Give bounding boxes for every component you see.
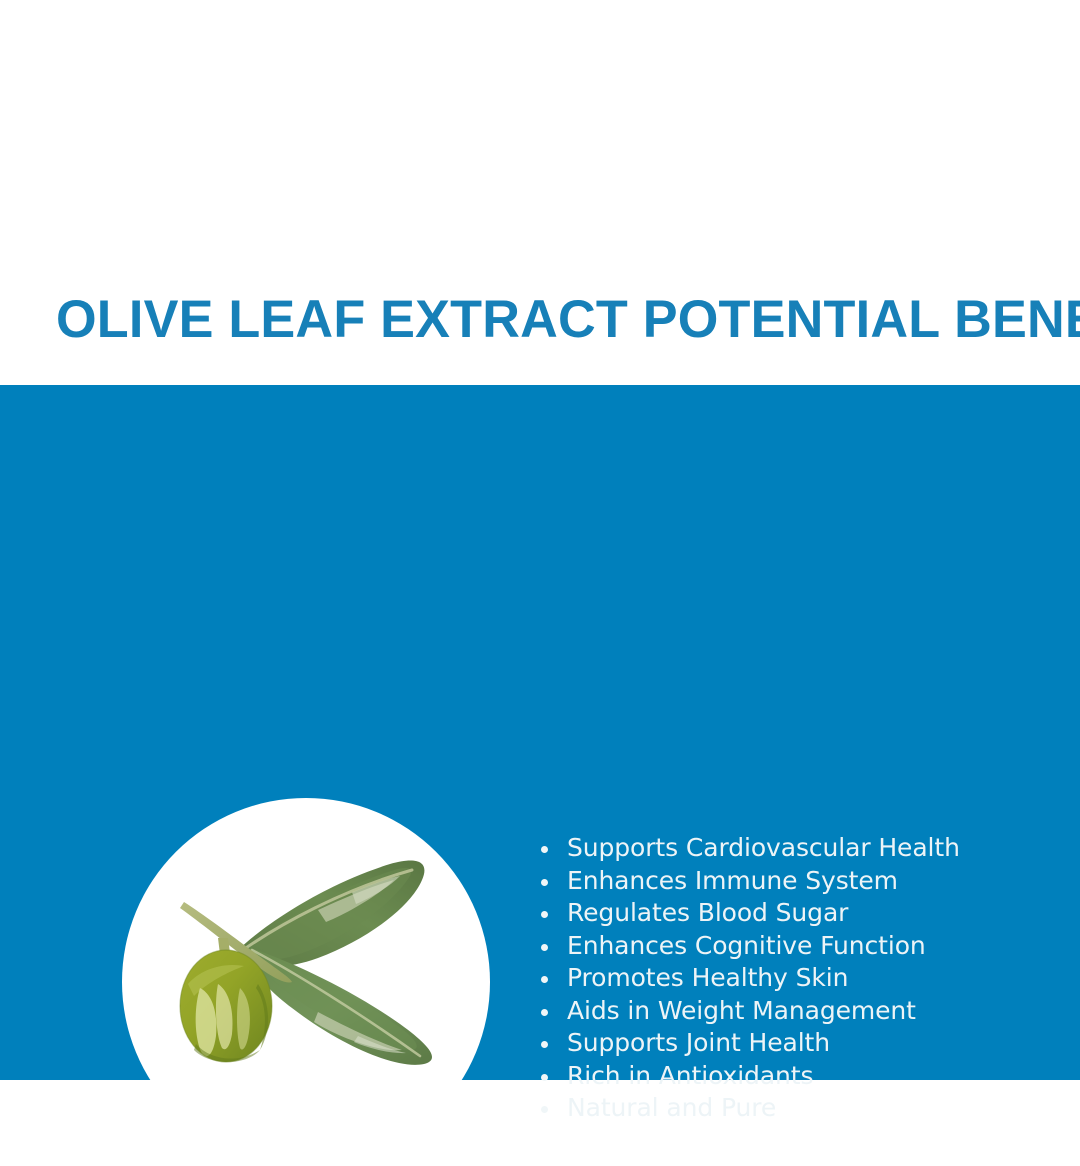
list-item: Natural and Pure [533,1092,1033,1125]
bullet-icon [541,879,548,886]
bullet-icon [541,911,548,918]
olive-leaf-lower [249,948,432,1065]
list-item-label: Aids in Weight Management [567,995,916,1028]
bullet-icon [541,846,548,853]
bullet-icon [541,1041,548,1048]
body-band: Supports Cardiovascular Health Enhances … [0,385,1080,1080]
list-item-label: Promotes Healthy Skin [567,962,848,995]
olive-fruit [180,950,272,1062]
image-medallion [122,798,490,1166]
list-item: Enhances Immune System [533,865,1033,898]
olive-leaf-upper [238,861,424,967]
bullet-icon [541,1009,548,1016]
list-item-label: Natural and Pure [567,1092,776,1125]
list-item: Rich in Antioxidants [533,1060,1033,1093]
list-item: Supports Cardiovascular Health [533,832,1033,865]
bullet-icon [541,1074,548,1081]
list-item-label: Enhances Immune System [567,865,898,898]
list-item: Enhances Cognitive Function [533,930,1033,963]
poster-canvas: OLIVE LEAF EXTRACT POTENTIAL BENEFITS [0,0,1080,1080]
list-item: Promotes Healthy Skin [533,962,1033,995]
list-item-label: Supports Joint Health [567,1027,830,1060]
page-title: OLIVE LEAF EXTRACT POTENTIAL BENEFITS [56,292,1016,348]
list-item-label: Rich in Antioxidants [567,1060,813,1093]
list-item-label: Supports Cardiovascular Health [567,832,960,865]
list-item: Supports Joint Health [533,1027,1033,1060]
header-band: OLIVE LEAF EXTRACT POTENTIAL BENEFITS [0,0,1080,385]
olive-branch-icon [122,798,490,1166]
bullet-icon [541,1106,548,1113]
bullet-icon [541,944,548,951]
bullet-icon [541,976,548,983]
list-item-label: Enhances Cognitive Function [567,930,926,963]
list-item: Aids in Weight Management [533,995,1033,1028]
list-item-label: Regulates Blood Sugar [567,897,848,930]
benefits-list: Supports Cardiovascular Health Enhances … [533,832,1033,1125]
list-item: Regulates Blood Sugar [533,897,1033,930]
